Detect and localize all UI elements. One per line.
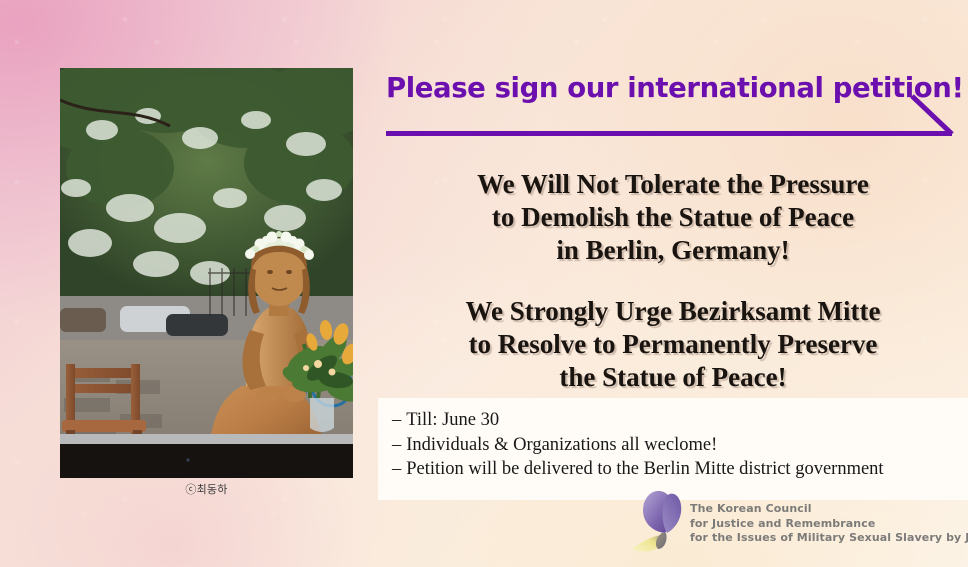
dash-bullet-icon: – [392, 459, 401, 479]
dash-bullet-icon: – [392, 435, 401, 455]
list-item: –Petition will be delivered to the Berli… [392, 457, 968, 482]
statement-line: to Demolish the Statue of Peace [378, 201, 968, 234]
statement-line: We Strongly Urge Bezirksamt Mitte [378, 295, 968, 328]
organization-name-line1: The Korean Council [690, 502, 968, 517]
statement-block-2: We Strongly Urge Bezirksamt Mitte to Res… [378, 295, 968, 394]
list-item: –Individuals & Organizations all weclome… [392, 433, 968, 458]
details-panel: –Till: June 30 –Individuals & Organizati… [378, 398, 968, 500]
photo-credit: ⓒ최동하 [60, 481, 353, 497]
statement-block-1: We Will Not Tolerate the Pressure to Dem… [378, 168, 968, 267]
organization-logo: The Korean Council for Justice and Remem… [628, 487, 964, 563]
butterfly-icon [628, 487, 698, 559]
list-item-label: Individuals & Organizations all weclome! [406, 435, 717, 455]
dash-bullet-icon: – [392, 410, 401, 430]
list-item-label: Till: June 30 [406, 410, 499, 430]
organization-name-line3: for the Issues of Military Sexual Slaver… [690, 531, 968, 546]
organization-name: The Korean Council for Justice and Remem… [690, 502, 968, 546]
organization-name-line2: for Justice and Remembrance [690, 517, 968, 532]
statement-line: We Will Not Tolerate the Pressure [378, 168, 968, 201]
petition-poster: ⓒ최동하 Please sign our international petit… [0, 0, 968, 567]
statement-line: in Berlin, Germany! [378, 234, 968, 267]
headline-underline-rule [386, 92, 956, 140]
statement-line: to Resolve to Permanently Preserve [378, 328, 968, 361]
list-item-label: Petition will be delivered to the Berlin… [406, 459, 883, 479]
statue-photo [60, 68, 353, 478]
statement-line: the Statue of Peace! [378, 361, 968, 394]
list-item: –Till: June 30 [392, 408, 968, 433]
details-list: –Till: June 30 –Individuals & Organizati… [378, 398, 968, 482]
